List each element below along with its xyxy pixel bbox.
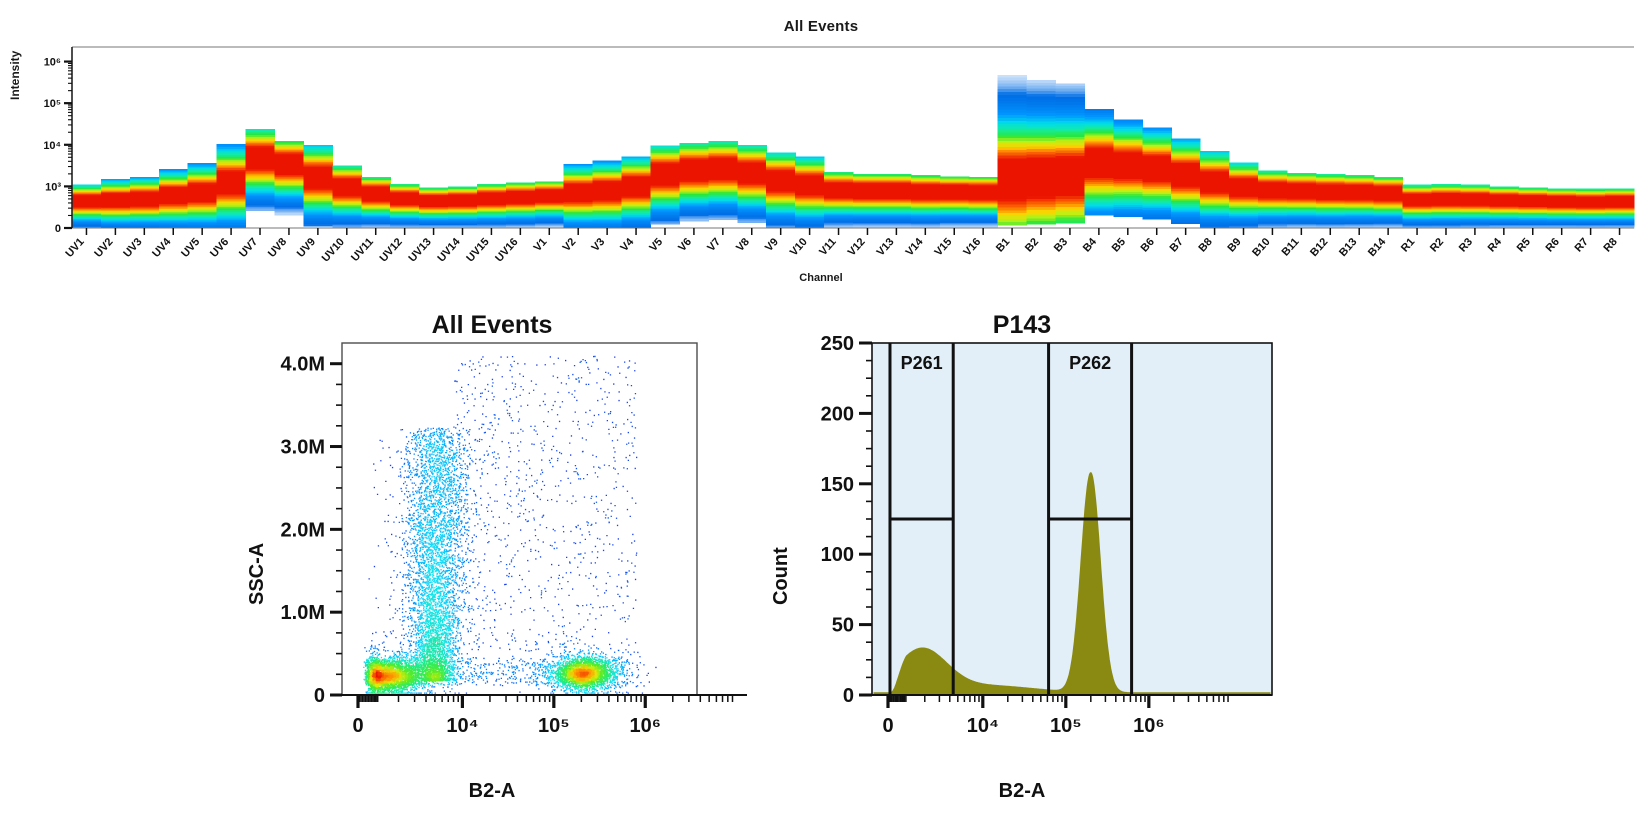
channel-tick-label: V13 xyxy=(875,236,897,259)
channel-tick-label: V11 xyxy=(817,236,839,258)
channel-tick-label: B8 xyxy=(1196,236,1214,254)
channel-tick-label: V2 xyxy=(561,236,579,254)
channel-tick-label: V6 xyxy=(676,236,694,254)
svg-text:10⁵: 10⁵ xyxy=(44,98,61,110)
spectral-plot-panel: All Events Intensity Channel 010³10⁴10⁵1… xyxy=(0,0,1642,300)
channel-tick-label: B10 xyxy=(1250,236,1272,259)
channel-tick-label: B1 xyxy=(994,236,1012,254)
channel-tick-label: V9 xyxy=(763,236,781,254)
channel-tick-label: UV6 xyxy=(208,236,231,260)
scatter-x-tick-label: 10⁴ xyxy=(446,715,478,737)
histogram-y-tick-label: 50 xyxy=(832,615,854,637)
channel-tick-label: UV16 xyxy=(493,236,520,264)
channel-tick-label: UV10 xyxy=(320,236,347,264)
histogram-svg: P261P262 050100150200250010⁴10⁵10⁶ xyxy=(762,305,1282,805)
scatter-x-tick-label: 0 xyxy=(352,715,363,737)
channel-tick-label: B6 xyxy=(1139,236,1157,254)
svg-text:10⁶: 10⁶ xyxy=(44,57,61,69)
scatter-y-tick-label: 3.0M xyxy=(281,437,325,459)
histogram-y-tick-label: 150 xyxy=(821,474,854,496)
channel-tick-label: UV15 xyxy=(464,236,491,264)
channel-tick-label: V10 xyxy=(788,236,810,259)
channel-tick-label: B7 xyxy=(1168,236,1186,254)
channel-tick-label: R3 xyxy=(1457,236,1475,254)
channel-tick-label: UV1 xyxy=(63,236,86,260)
svg-text:10⁴: 10⁴ xyxy=(43,140,61,152)
channel-tick-label: B13 xyxy=(1337,236,1359,259)
scatter-y-tick-label: 2.0M xyxy=(281,519,325,541)
histogram-y-tick-label: 0 xyxy=(843,685,854,707)
channel-tick-label: V7 xyxy=(705,236,723,254)
histogram-x-tick-label: 0 xyxy=(882,715,893,737)
scatter-plot-svg: 01.0M2.0M3.0M4.0M010⁴10⁵10⁶ xyxy=(232,305,752,805)
histogram-panel: P143 Count B2-A P261P262 050100150200250… xyxy=(762,305,1282,805)
channel-tick-label: R2 xyxy=(1428,236,1446,254)
channel-tick-label: B11 xyxy=(1280,236,1302,259)
scatter-y-tick-label: 4.0M xyxy=(281,354,325,376)
channel-tick-label: UV11 xyxy=(349,236,376,264)
channel-tick-label: V14 xyxy=(904,235,927,258)
histogram-x-tick-label: 10⁶ xyxy=(1133,715,1164,737)
channel-tick-label: V12 xyxy=(846,236,868,259)
channel-tick-label: V16 xyxy=(961,236,983,259)
channel-tick-label: B4 xyxy=(1081,235,1100,254)
svg-text:0: 0 xyxy=(55,223,61,235)
svg-text:10³: 10³ xyxy=(45,181,61,193)
channel-tick-label: UV9 xyxy=(295,236,318,260)
channel-tick-label: V8 xyxy=(734,236,752,254)
channel-tick-label: UV7 xyxy=(237,236,260,260)
channel-tick-label: V1 xyxy=(532,236,550,254)
channel-tick-label: UV2 xyxy=(92,236,115,260)
channel-tick-label: B12 xyxy=(1308,236,1330,259)
histogram-y-tick-label: 250 xyxy=(821,333,854,355)
channel-tick-label: UV8 xyxy=(266,236,289,260)
channel-tick-label: V4 xyxy=(618,235,637,254)
channel-tick-label: R7 xyxy=(1573,236,1591,254)
channel-tick-label: R6 xyxy=(1544,236,1562,254)
channel-tick-label: R4 xyxy=(1486,235,1505,254)
channel-tick-label: R1 xyxy=(1399,236,1417,254)
spectral-plot-svg: 010³10⁴10⁵10⁶UV1UV2UV3UV4UV5UV6UV7UV8UV9… xyxy=(0,0,1642,300)
channel-tick-label: UV14 xyxy=(435,235,463,264)
channel-tick-label: B3 xyxy=(1052,236,1070,254)
channel-tick-label: V5 xyxy=(647,236,665,254)
channel-tick-label: UV12 xyxy=(378,236,405,264)
channel-tick-label: B14 xyxy=(1366,235,1389,259)
histogram-x-tick-label: 10⁵ xyxy=(1050,715,1082,737)
gate-label[interactable]: P262 xyxy=(1069,353,1111,373)
scatter-y-tick-label: 1.0M xyxy=(281,602,325,624)
channel-tick-label: UV3 xyxy=(121,236,144,260)
histogram-y-tick-label: 100 xyxy=(821,544,854,566)
channel-tick-label: UV13 xyxy=(406,236,433,264)
channel-tick-label: B5 xyxy=(1110,236,1128,254)
channel-tick-label: R5 xyxy=(1515,236,1533,254)
channel-tick-label: B2 xyxy=(1023,236,1041,254)
scatter-x-tick-label: 10⁵ xyxy=(538,715,570,737)
gate-label[interactable]: P261 xyxy=(901,353,943,373)
spectral-band-group xyxy=(72,75,1635,229)
channel-tick-label: V3 xyxy=(589,236,607,254)
scatter-x-tick-label: 10⁶ xyxy=(630,715,661,737)
channel-tick-label: UV4 xyxy=(150,235,174,260)
scatter-y-tick-label: 0 xyxy=(314,685,325,707)
histogram-x-tick-label: 10⁴ xyxy=(967,715,999,737)
histogram-y-tick-label: 200 xyxy=(821,403,854,425)
scatter-plot-panel: All Events SSC-A B2-A 01.0M2.0M3.0M4.0M0… xyxy=(232,305,752,805)
channel-tick-label: V15 xyxy=(932,236,954,259)
channel-tick-label: R8 xyxy=(1601,236,1619,254)
channel-tick-label: B9 xyxy=(1225,236,1243,254)
channel-tick-label: UV5 xyxy=(179,236,202,260)
